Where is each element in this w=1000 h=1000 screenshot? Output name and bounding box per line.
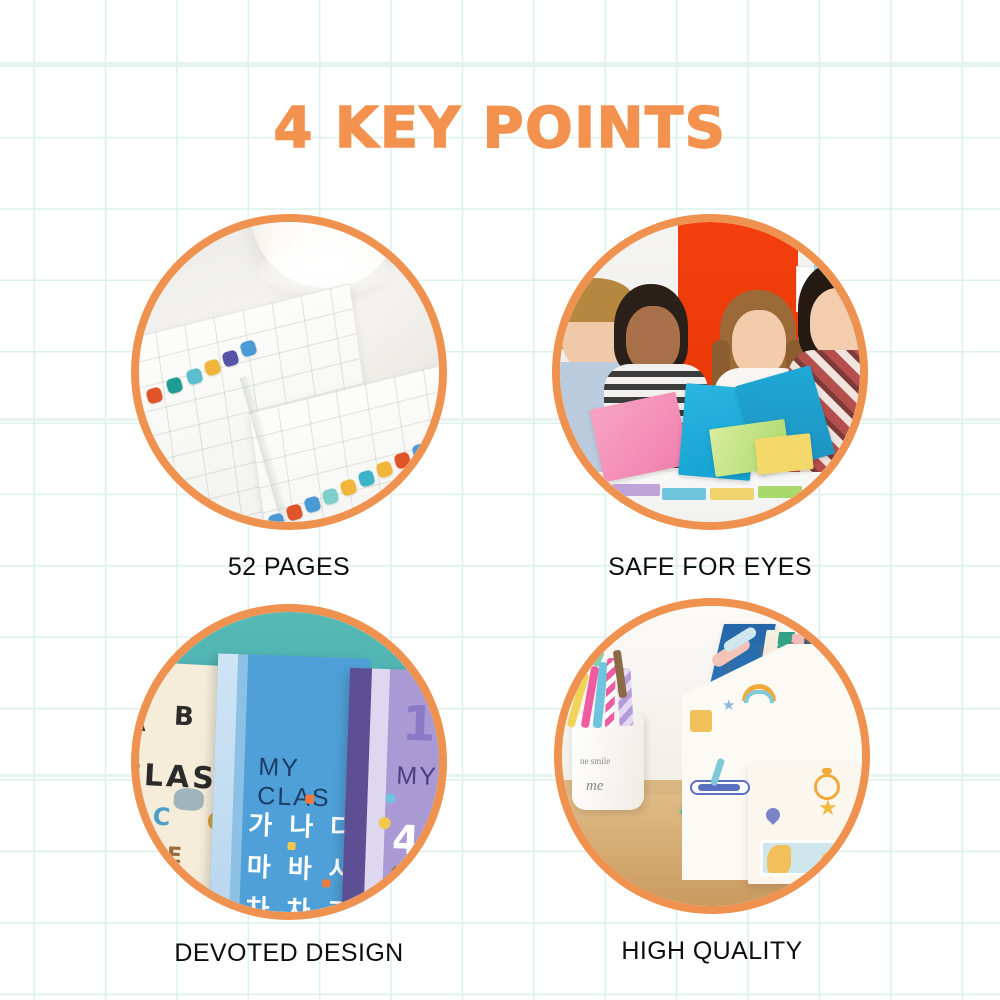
cover-number-4: 4	[391, 817, 420, 864]
feature-caption-design: DEVOTED DESIGN	[128, 939, 450, 968]
notebook-yellow	[754, 433, 813, 475]
workbook-photo	[139, 222, 439, 522]
star-small-sticker-icon: ★	[722, 698, 735, 713]
cup-text-line-2: me	[586, 778, 604, 795]
feature-image-design: A B CLAS C D E G MY CLAS 가 나 다 마 바 사	[131, 604, 447, 920]
cover-letter-c: C	[152, 803, 171, 832]
students-photo	[560, 222, 860, 522]
cover-number-1: 1	[401, 696, 436, 753]
cover-letter-b: B	[173, 702, 194, 733]
cover-letter-d: D	[139, 839, 150, 865]
magazine-file-front: ★	[748, 764, 862, 884]
label-frame	[760, 840, 854, 876]
feature-card-pages: 52 PAGES	[128, 214, 450, 582]
cover-korean-line-3: 차 차 카	[245, 889, 356, 912]
cup-text-line-1: ne smile	[580, 756, 610, 766]
heart-sticker-icon	[763, 805, 783, 825]
feature-card-quality: MY AR MY DREAM MATE MY DREAM MATE MY DRE…	[551, 598, 873, 966]
desk-organizer-photo: MY AR MY DREAM MATE MY DREAM MATE MY DRE…	[562, 606, 862, 906]
cover-purple-numbers: 1 MY C 4 5	[340, 668, 439, 912]
page-title: 4 KEY POINTS	[0, 96, 1000, 161]
cover-letter-a: A	[139, 707, 147, 738]
pencil-sticker-icon	[690, 710, 712, 732]
cover-title-purple: MY C	[396, 761, 439, 792]
cover-korean-line-2: 마 바 사	[246, 847, 357, 888]
cover-letter-e: E	[166, 843, 182, 869]
feature-image-pages	[131, 214, 447, 530]
pen-cup: ne smile me	[572, 714, 644, 810]
feature-caption-quality: HIGH QUALITY	[551, 937, 873, 966]
cover-korean-line-1: 가 나 다	[248, 805, 359, 846]
feature-caption-pages: 52 PAGES	[128, 553, 450, 582]
feature-card-design: A B CLAS C D E G MY CLAS 가 나 다 마 바 사	[128, 604, 450, 968]
feature-caption-eyes: SAFE FOR EYES	[549, 553, 871, 582]
feature-card-eyes: SAFE FOR EYES	[549, 214, 871, 582]
feature-image-eyes	[552, 214, 868, 530]
feature-image-quality: MY AR MY DREAM MATE MY DREAM MATE MY DRE…	[554, 598, 870, 914]
notebook-covers-photo: A B CLAS C D E G MY CLAS 가 나 다 마 바 사	[139, 612, 439, 912]
